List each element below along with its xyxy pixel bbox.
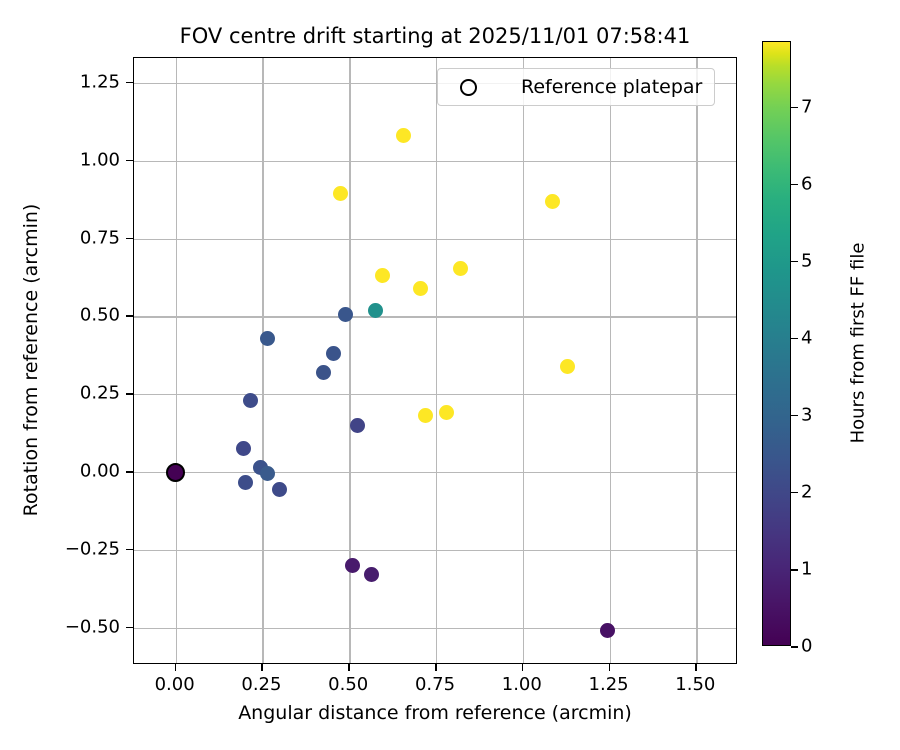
x-gridline (262, 58, 263, 663)
x-axis-label: Angular distance from reference (arcmin) (133, 702, 737, 724)
data-point (396, 128, 411, 143)
y-tick-label: 0.50 (80, 305, 120, 326)
y-gridline (134, 628, 736, 629)
colorbar-tick-label: 1 (801, 558, 812, 579)
colorbar-tick-label: 3 (801, 404, 812, 425)
y-tick-mark (126, 627, 133, 629)
x-gridline (610, 58, 611, 663)
data-point (413, 281, 428, 296)
colorbar-tick-label: 0 (801, 636, 812, 657)
reference-platepar-marker (166, 463, 185, 482)
x-gridline (436, 58, 437, 663)
data-point (350, 418, 365, 433)
colorbar-tick-mark (791, 492, 798, 494)
x-tick-mark (522, 664, 524, 671)
data-point (439, 405, 454, 420)
page-title: FOV centre drift starting at 2025/11/01 … (130, 24, 740, 48)
x-tick-mark (348, 664, 350, 671)
y-tick-label: 0.00 (80, 461, 120, 482)
y-tick-mark (126, 160, 133, 162)
x-tick-label: 1.50 (675, 674, 715, 695)
x-tick-mark (261, 664, 263, 671)
legend: Reference platepar (437, 68, 715, 106)
y-gridline (134, 316, 736, 317)
colorbar-tick-label: 2 (801, 481, 812, 502)
colorbar-gradient (762, 41, 791, 646)
x-gridline (176, 58, 177, 663)
y-tick-label: 1.25 (80, 71, 120, 92)
colorbar-tick-label: 6 (801, 173, 812, 194)
data-point (375, 268, 390, 283)
data-point (338, 307, 353, 322)
x-tick-mark (695, 664, 697, 671)
colorbar-tick-label: 7 (801, 96, 812, 117)
y-tick-label: 1.00 (80, 149, 120, 170)
colorbar-tick-mark (791, 184, 798, 186)
data-point (345, 558, 360, 573)
y-tick-label: 0.75 (80, 227, 120, 248)
y-gridline (134, 394, 736, 395)
x-tick-mark (435, 664, 437, 671)
x-tick-label: 1.25 (589, 674, 629, 695)
colorbar-tick-mark (791, 646, 798, 648)
colorbar-tick-mark (791, 107, 798, 109)
data-point (238, 475, 253, 490)
y-tick-label: 0.25 (80, 383, 120, 404)
x-gridline (523, 58, 524, 663)
data-point (326, 346, 341, 361)
figure-canvas: FOV centre drift starting at 2025/11/01 … (0, 0, 900, 750)
y-tick-mark (126, 393, 133, 395)
y-tick-label: −0.25 (65, 538, 120, 559)
data-point (316, 365, 331, 380)
data-point (560, 359, 575, 374)
plot-area (133, 57, 737, 664)
y-gridline (134, 161, 736, 162)
y-tick-mark (126, 315, 133, 317)
colorbar-tick-mark (791, 569, 798, 571)
data-point (368, 303, 383, 318)
y-tick-mark (126, 471, 133, 473)
data-point (272, 482, 287, 497)
x-tick-mark (175, 664, 177, 671)
y-tick-label: −0.50 (65, 616, 120, 637)
colorbar-tick-mark (791, 338, 798, 340)
data-point (243, 393, 258, 408)
colorbar-tick-mark (791, 415, 798, 417)
legend-label: Reference platepar (521, 76, 702, 98)
data-point (236, 441, 251, 456)
y-tick-mark (126, 238, 133, 240)
y-gridline (134, 472, 736, 473)
y-gridline (134, 239, 736, 240)
data-point (418, 408, 433, 423)
x-tick-label: 0.50 (328, 674, 368, 695)
legend-marker-open-circle-icon (460, 79, 477, 96)
y-gridline (134, 550, 736, 551)
x-tick-mark (609, 664, 611, 671)
x-tick-label: 0.75 (415, 674, 455, 695)
x-gridline (696, 58, 697, 663)
data-point (453, 261, 468, 276)
colorbar-label: Hours from first FF file (848, 243, 869, 444)
colorbar-tick-label: 4 (801, 327, 812, 348)
x-tick-label: 1.00 (502, 674, 542, 695)
y-tick-mark (126, 82, 133, 84)
data-point (333, 186, 348, 201)
data-point (364, 567, 379, 582)
colorbar-tick-label: 5 (801, 250, 812, 271)
colorbar-tick-mark (791, 261, 798, 263)
data-point (260, 466, 275, 481)
x-tick-label: 0.00 (155, 674, 195, 695)
data-point (600, 623, 615, 638)
data-point (545, 194, 560, 209)
x-tick-label: 0.25 (241, 674, 281, 695)
y-tick-mark (126, 549, 133, 551)
data-point (260, 331, 275, 346)
y-axis-label: Rotation from reference (arcmin) (20, 204, 42, 517)
